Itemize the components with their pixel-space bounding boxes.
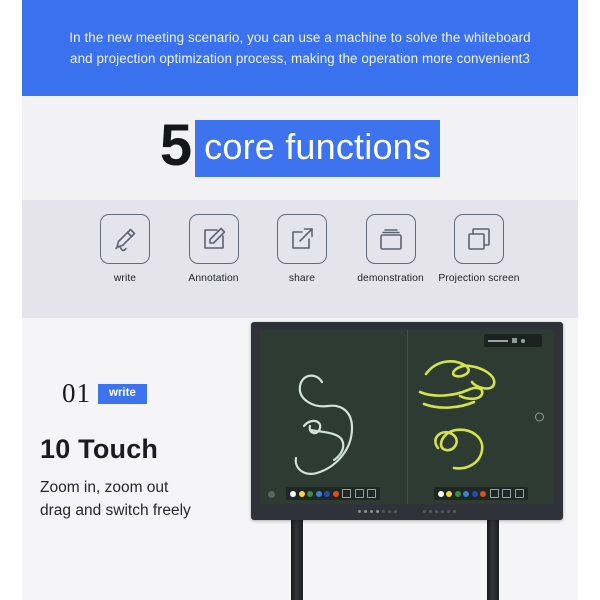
pen-tool-icon[interactable] (342, 489, 351, 498)
page-root: In the new meeting scenario, you can use… (0, 0, 600, 600)
whiteboard-device (225, 322, 567, 600)
headline-number: 5 (160, 117, 192, 175)
bezel-port (453, 510, 456, 513)
bezel-dot (394, 510, 397, 513)
headline-inner: 5 core functions (22, 96, 578, 200)
undo-tool-icon[interactable] (515, 489, 524, 498)
device-stand-leg-right (487, 520, 499, 600)
feature-label: write (114, 273, 136, 285)
feature-item-share[interactable]: share (259, 214, 345, 285)
color-swatch-yellow[interactable] (446, 491, 452, 497)
bezel-dot (358, 510, 361, 513)
promo-banner: In the new meeting scenario, you can use… (22, 0, 578, 96)
feature-subtitle: Zoom in, zoom out drag and switch freely (40, 476, 191, 522)
feature-icon-band: write Annotation (22, 200, 578, 318)
feature-item-annotation[interactable]: Annotation (171, 214, 257, 285)
color-swatch-orange[interactable] (333, 491, 339, 497)
color-swatch-green[interactable] (455, 491, 461, 497)
pane-toolbar-left[interactable] (286, 487, 380, 500)
color-swatch-dark-blue[interactable] (472, 491, 478, 497)
feature-label: demonstration (357, 273, 424, 285)
bezel-dot (364, 510, 367, 513)
feature-item-write[interactable]: write (82, 214, 168, 285)
bezel-control-strip (251, 505, 563, 518)
bezel-dot (382, 510, 385, 513)
toolbar-dot-icon[interactable] (521, 339, 525, 343)
color-swatch-blue[interactable] (316, 491, 322, 497)
bezel-port (435, 510, 438, 513)
feature-item-demonstration[interactable]: demonstration (348, 214, 434, 285)
device-screen[interactable] (260, 330, 554, 504)
whiteboard-pane-left[interactable] (260, 330, 407, 504)
color-swatch-yellow[interactable] (299, 491, 305, 497)
color-swatch-white[interactable] (290, 491, 296, 497)
eraser-tool-icon[interactable] (355, 489, 364, 498)
share-arrow-icon (277, 214, 327, 264)
color-swatch-orange[interactable] (480, 491, 486, 497)
step-row: 01 write (62, 380, 147, 407)
bezel-dot (376, 510, 379, 513)
step-badge: write (98, 384, 147, 404)
feature-subtitle-line-2: drag and switch freely (40, 499, 191, 522)
feature-item-projection-screen[interactable]: Projection screen (436, 214, 522, 285)
headline-highlight: core functions (195, 120, 440, 177)
undo-tool-icon[interactable] (367, 489, 376, 498)
bezel-port (441, 510, 444, 513)
toolbar-slider-icon[interactable] (488, 340, 508, 342)
feature-label: Projection screen (438, 273, 519, 285)
eraser-tool-icon[interactable] (502, 489, 511, 498)
white-freehand-scribble (260, 330, 407, 504)
pane-toolbar-right[interactable] (434, 487, 528, 500)
headline-section: 5 core functions (22, 96, 578, 200)
bezel-port (423, 510, 426, 513)
bezel-port-group (423, 510, 456, 513)
toolbar-square-icon[interactable] (512, 338, 517, 343)
camera-indicator (268, 491, 275, 498)
feature-label: Annotation (188, 273, 238, 285)
pen-tool-icon[interactable] (490, 489, 499, 498)
color-swatch-blue[interactable] (463, 491, 469, 497)
annotation-pen-square-icon (189, 214, 239, 264)
power-button[interactable] (535, 413, 544, 422)
bezel-port (447, 510, 450, 513)
demonstration-window-icon (366, 214, 416, 264)
banner-line-1: In the new meeting scenario, you can use… (69, 27, 530, 48)
whiteboard-pane-right[interactable] (408, 330, 555, 504)
feature-title: 10 Touch (40, 434, 158, 465)
feature-subtitle-line-1: Zoom in, zoom out (40, 476, 191, 499)
projection-screen-icon (454, 214, 504, 264)
step-number: 01 (62, 380, 91, 407)
yellow-freehand-scribble (408, 330, 555, 504)
bezel-button-group[interactable] (358, 510, 397, 513)
device-stand-leg-left (291, 520, 303, 600)
banner-line-2: and projection optimization process, mak… (70, 48, 530, 69)
color-swatch-green[interactable] (307, 491, 313, 497)
bezel-dot (370, 510, 373, 513)
feature-section: 01 write 10 Touch Zoom in, zoom out drag… (22, 318, 578, 600)
feature-icon-row: write Annotation (82, 214, 522, 285)
floating-toolbar[interactable] (484, 334, 542, 347)
bezel-port (429, 510, 432, 513)
pen-write-icon (100, 214, 150, 264)
feature-label: share (289, 273, 315, 285)
color-swatch-dark-blue[interactable] (324, 491, 330, 497)
bezel-dot (388, 510, 391, 513)
device-bezel (251, 322, 563, 520)
color-swatch-white[interactable] (438, 491, 444, 497)
